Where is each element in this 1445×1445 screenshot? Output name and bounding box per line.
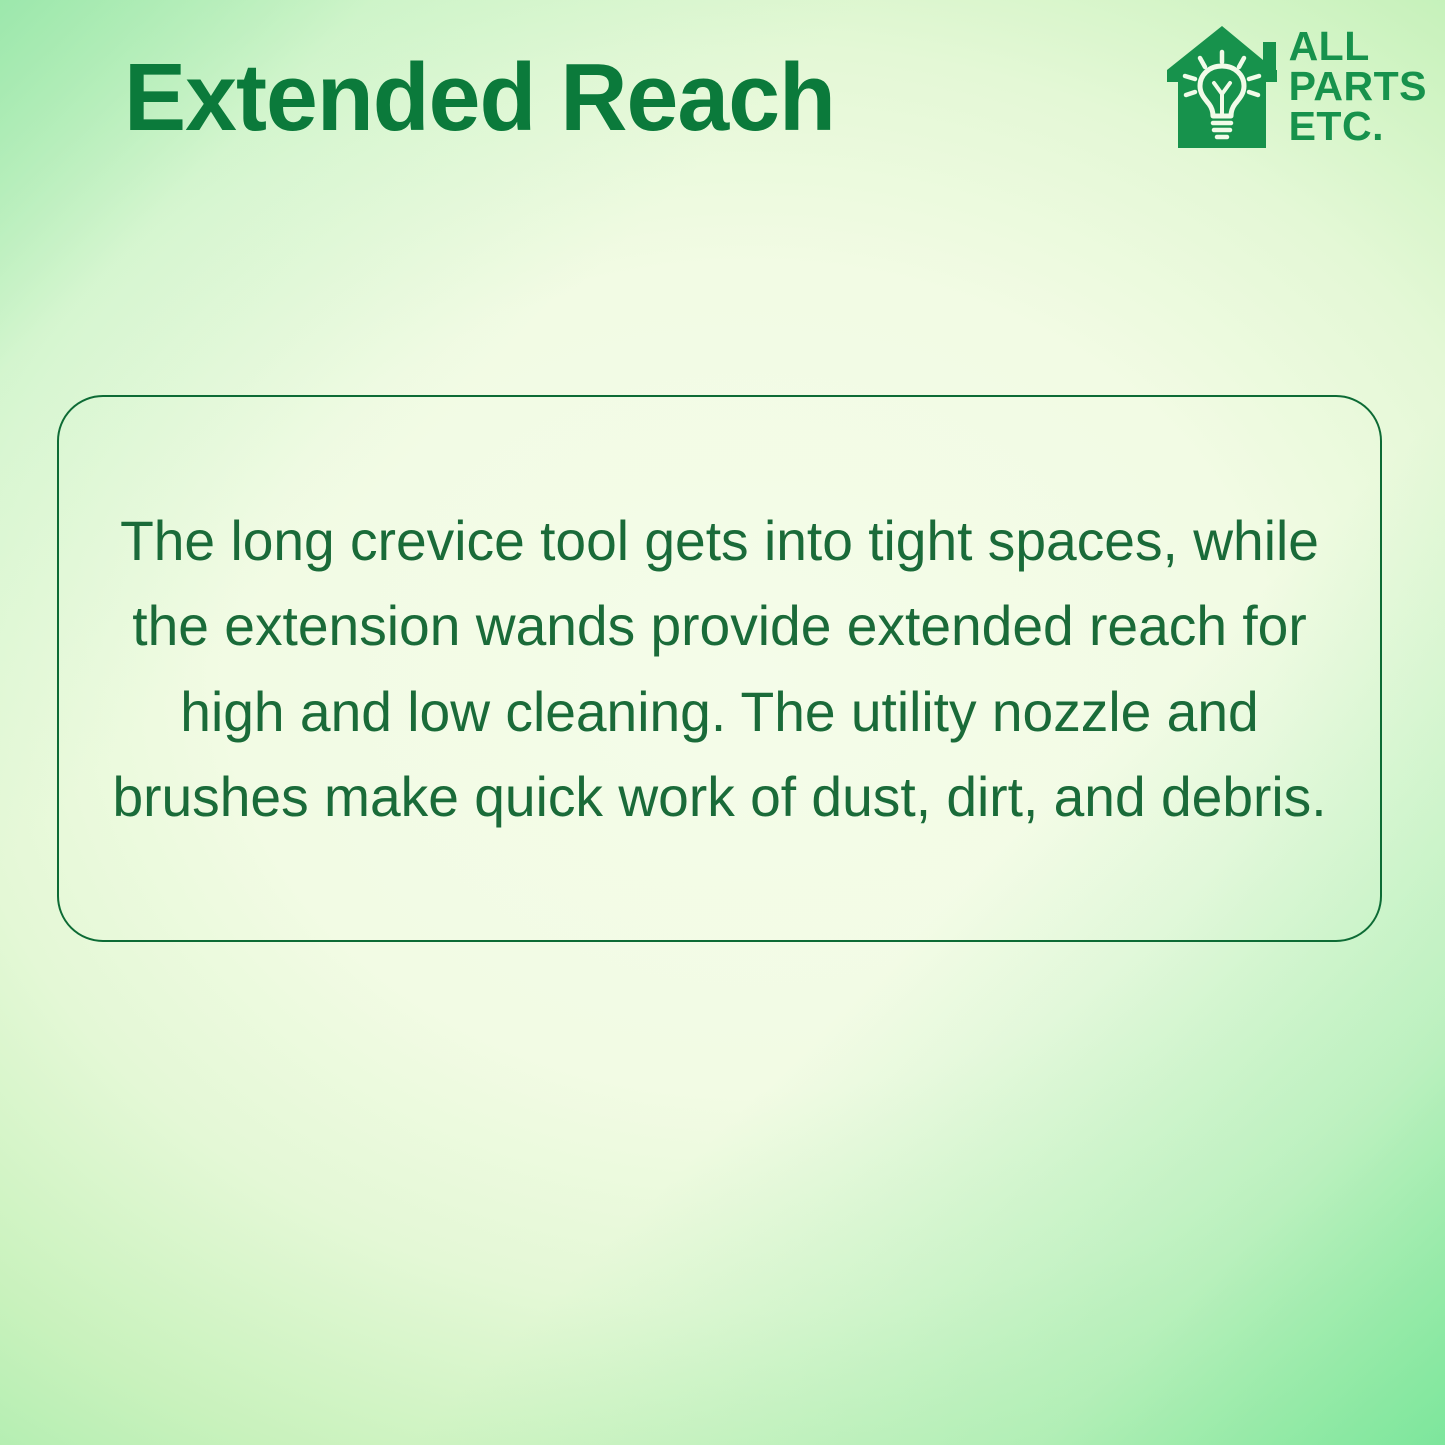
logo-line-etc: ETC.	[1289, 106, 1427, 146]
logo-line-all: ALL	[1289, 26, 1427, 66]
page-title: Extended Reach	[124, 50, 835, 146]
house-lightbulb-icon	[1167, 22, 1277, 152]
logo-line-parts: PARTS	[1289, 66, 1427, 106]
header: Extended Reach	[0, 0, 1445, 186]
promo-page: Extended Reach	[0, 0, 1445, 1445]
brand-logo: ALL PARTS ETC.	[1167, 22, 1427, 152]
description-card: The long crevice tool gets into tight sp…	[57, 395, 1382, 942]
description-text: The long crevice tool gets into tight sp…	[112, 498, 1327, 838]
logo-wordmark: ALL PARTS ETC.	[1289, 22, 1427, 147]
